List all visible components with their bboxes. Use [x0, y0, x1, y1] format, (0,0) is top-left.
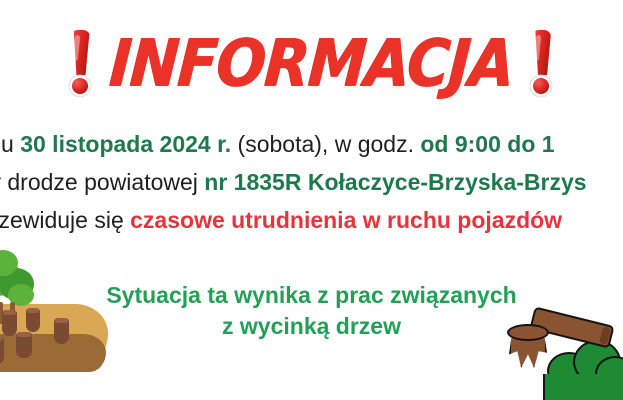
deforestation-stumps-illustration	[0, 252, 128, 400]
information-poster: INFORMACJA lniu 30 listopada 2024 r. (so…	[0, 0, 623, 400]
body-line-2: zy drodze powiatowej nr 1835R Kołaczyce-…	[0, 163, 623, 201]
tree-stump	[2, 310, 17, 336]
bush-icon	[543, 338, 623, 400]
tree-stump	[54, 318, 69, 344]
tree-stump	[26, 308, 40, 332]
body-line-3-warning: czasowe utrudnienia w ruchu pojazdów	[130, 207, 562, 233]
cut-log-stump-illustration	[499, 300, 623, 400]
body-line-3: orzewiduje się czasowe utrudnienia w ruc…	[0, 201, 623, 239]
body-line-1-seg-3: (sobota), w godz.	[231, 131, 420, 157]
body-line-1-hours: od 9:00 do 1	[420, 131, 554, 157]
body-line-1: lniu 30 listopada 2024 r. (sobota), w go…	[0, 125, 623, 163]
tree-icon	[0, 250, 42, 312]
exclamation-mark-right-icon	[527, 30, 557, 96]
body-line-2-road: nr 1835R Kołaczyce-Brzyska-Brzys	[204, 169, 586, 195]
body-line-1-date: 30 listopada 2024 r.	[20, 131, 231, 157]
cut-stump-top	[507, 324, 549, 341]
tree-stump	[16, 332, 32, 358]
body-line-2-seg-1: zy drodze powiatowej	[0, 169, 204, 195]
tree-stump	[0, 336, 4, 364]
body-line-1-seg-1: lniu	[0, 131, 20, 157]
body-line-3-seg-1: orzewiduje się	[0, 207, 130, 233]
title-text: INFORMACJA	[107, 31, 515, 96]
announcement-body: lniu 30 listopada 2024 r. (sobota), w go…	[0, 125, 623, 239]
exclamation-mark-left-icon	[66, 30, 96, 96]
poster-title: INFORMACJA	[0, 22, 623, 104]
